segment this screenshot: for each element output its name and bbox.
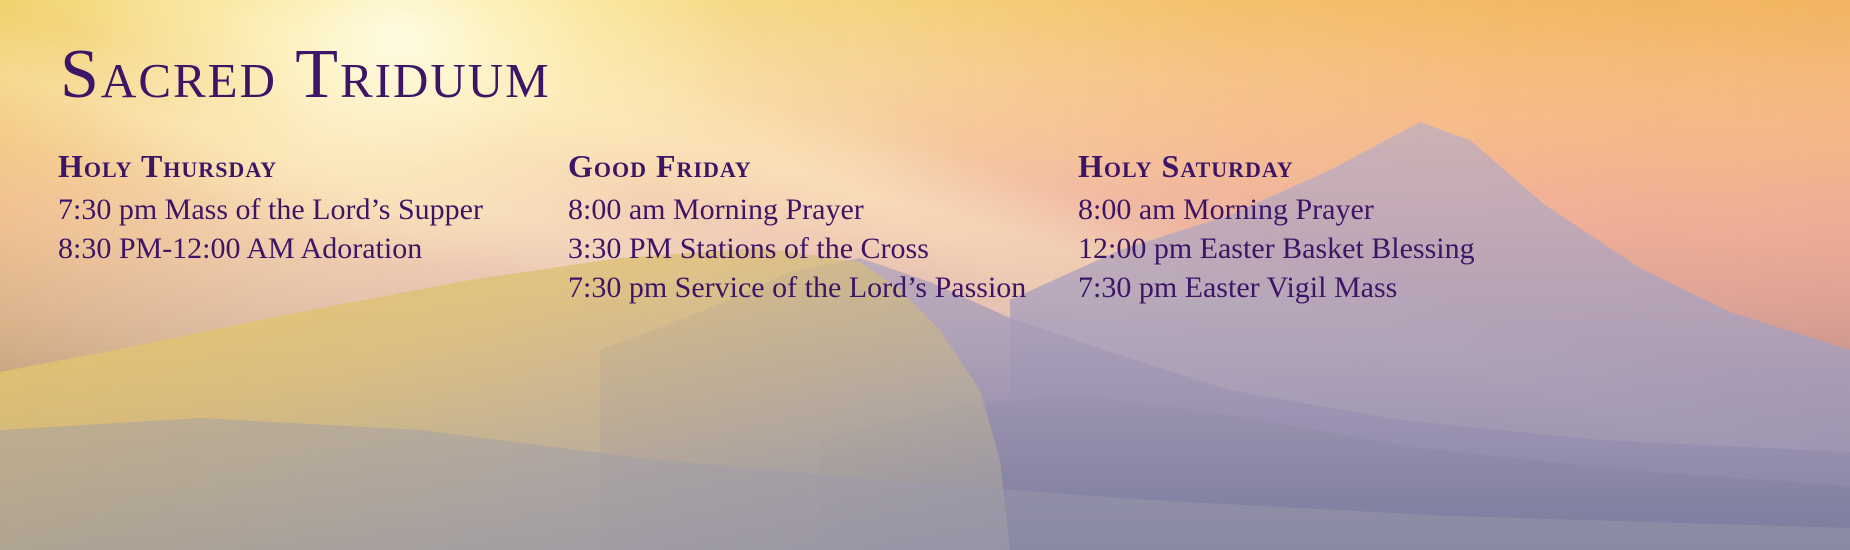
schedule-line: 8:00 am Morning Prayer bbox=[1078, 190, 1475, 229]
column-heading-good-friday: Good Friday bbox=[568, 146, 1026, 186]
column-heading-holy-saturday: Holy Saturday bbox=[1078, 146, 1475, 186]
schedule-line: 12:00 pm Easter Basket Blessing bbox=[1078, 229, 1475, 268]
schedule-column-holy-thursday: Holy Thursday 7:30 pm Mass of the Lord’s… bbox=[58, 146, 483, 268]
page-title: Sacred Triduum bbox=[60, 40, 551, 110]
column-heading-holy-thursday: Holy Thursday bbox=[58, 146, 483, 186]
schedule-line: 8:30 PM-12:00 AM Adoration bbox=[58, 229, 483, 268]
schedule-column-holy-saturday: Holy Saturday 8:00 am Morning Prayer 12:… bbox=[1078, 146, 1475, 307]
schedule-line: 7:30 pm Easter Vigil Mass bbox=[1078, 268, 1475, 307]
schedule-line: 7:30 pm Mass of the Lord’s Supper bbox=[58, 190, 483, 229]
schedule-line: 3:30 PM Stations of the Cross bbox=[568, 229, 1026, 268]
banner-content: Sacred Triduum Holy Thursday 7:30 pm Mas… bbox=[0, 0, 1850, 550]
schedule-line: 8:00 am Morning Prayer bbox=[568, 190, 1026, 229]
schedule-line: 7:30 pm Service of the Lord’s Passion bbox=[568, 268, 1026, 307]
schedule-column-good-friday: Good Friday 8:00 am Morning Prayer 3:30 … bbox=[568, 146, 1026, 307]
sacred-triduum-banner: Sacred Triduum Holy Thursday 7:30 pm Mas… bbox=[0, 0, 1850, 550]
